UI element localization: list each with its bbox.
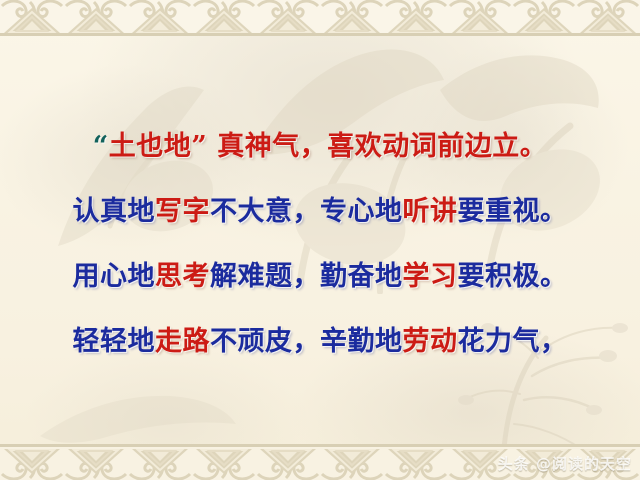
verse-line-2-segment-5: 听讲 — [403, 196, 458, 227]
verse-line-1-segment-3: ” 真神气，喜欢动词前边立。 — [191, 131, 547, 162]
verse-line-3: 用心地思考解难题，勤奋地学习要积极。 — [0, 254, 640, 293]
ornament-border-top — [0, 0, 640, 36]
slide-canvas: “土也地” 真神气，喜欢动词前边立。 认真地写字不大意，专心地听讲要重视。 用心… — [0, 0, 640, 480]
verse-line-4: 轻轻地走路不顽皮，辛勤地劳动花力气， — [0, 319, 640, 358]
verse-line-3-segment-3: 解难题， — [210, 261, 320, 292]
verse-line-2-segment-4: 专心地 — [320, 196, 403, 227]
verse-line-2-segment-6: 要重视。 — [458, 196, 568, 227]
verse-line-4-segment-5: 劳动 — [403, 326, 458, 357]
verse-line-4-segment-1: 轻轻地 — [73, 326, 156, 357]
verse-line-3-segment-6: 要积极。 — [458, 261, 568, 292]
verse-line-2-segment-2: 写字 — [155, 196, 210, 227]
verse-line-4-segment-6: 花力气， — [458, 326, 568, 357]
verse-line-2-segment-3: 不大意， — [210, 196, 320, 227]
verse-line-4-segment-4: 辛勤地 — [320, 326, 403, 357]
verse-line-2-segment-1: 认真地 — [73, 196, 156, 227]
verse-line-3-segment-5: 学习 — [403, 261, 458, 292]
verse-line-1-segment-1: “ — [93, 131, 109, 162]
verse-line-3-segment-1: 用心地 — [73, 261, 156, 292]
verse-line-2: 认真地写字不大意，专心地听讲要重视。 — [0, 189, 640, 228]
verse-line-3-segment-2: 思考 — [155, 261, 210, 292]
publisher-watermark: 头条 @阅读的天空 — [498, 453, 632, 474]
verse-line-1: “土也地” 真神气，喜欢动词前边立。 — [0, 124, 640, 163]
verse-line-1-segment-2: 土也地 — [109, 131, 192, 162]
verse-line-3-segment-4: 勤奋地 — [320, 261, 403, 292]
verse-line-4-segment-3: 不顽皮， — [210, 326, 320, 357]
verse-line-4-segment-2: 走路 — [155, 326, 210, 357]
